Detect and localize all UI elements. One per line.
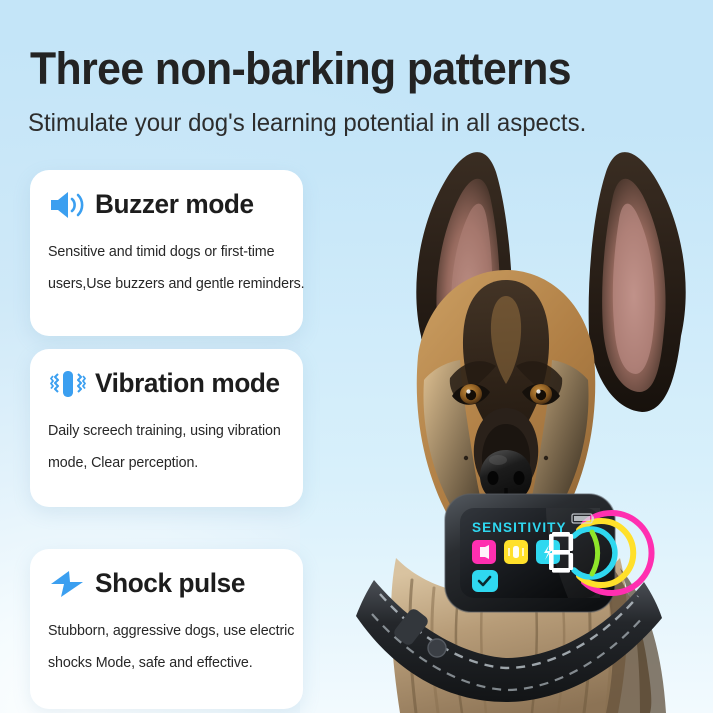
feature-card-line: Daily screech training, using vibration (48, 415, 283, 447)
page-headline: Three non-barking patterns (30, 40, 657, 98)
feature-card-title: Buzzer mode (95, 189, 254, 220)
page-subheadline: Stimulate your dog's learning potential … (28, 105, 681, 141)
feature-card-title: Shock pulse (95, 568, 245, 599)
lightning-bolt-icon (48, 564, 88, 604)
feature-card-line: Stubborn, aggressive dogs, use electric (48, 615, 283, 647)
feature-card-header: Shock pulse (30, 549, 303, 601)
feature-card-body: Stubborn, aggressive dogs, use electric … (30, 601, 303, 679)
feature-card-vibration[interactable]: Vibration mode Daily screech training, u… (30, 349, 303, 507)
speaker-sound-icon (48, 185, 88, 225)
dog-photo: SENSITIVITY (300, 128, 713, 713)
feature-card-title: Vibration mode (95, 368, 280, 399)
feature-card-body: Sensitive and timid dogs or first-time u… (30, 222, 303, 300)
promo-page: SENSITIVITY (0, 0, 713, 713)
vibration-icon (48, 364, 88, 404)
feature-card-buzzer[interactable]: Buzzer mode Sensitive and timid dogs or … (30, 170, 303, 336)
feature-card-line: users,Use buzzers and gentle reminders. (48, 268, 283, 300)
feature-card-line: shocks Mode, safe and effective. (48, 647, 283, 679)
feature-card-header: Vibration mode (30, 349, 303, 401)
feature-card-shock[interactable]: Shock pulse Stubborn, aggressive dogs, u… (30, 549, 303, 709)
feature-card-header: Buzzer mode (30, 170, 303, 222)
feature-card-line: Sensitive and timid dogs or first-time (48, 236, 283, 268)
feature-card-body: Daily screech training, using vibration … (30, 401, 303, 479)
feature-card-line: mode, Clear perception. (48, 447, 283, 479)
